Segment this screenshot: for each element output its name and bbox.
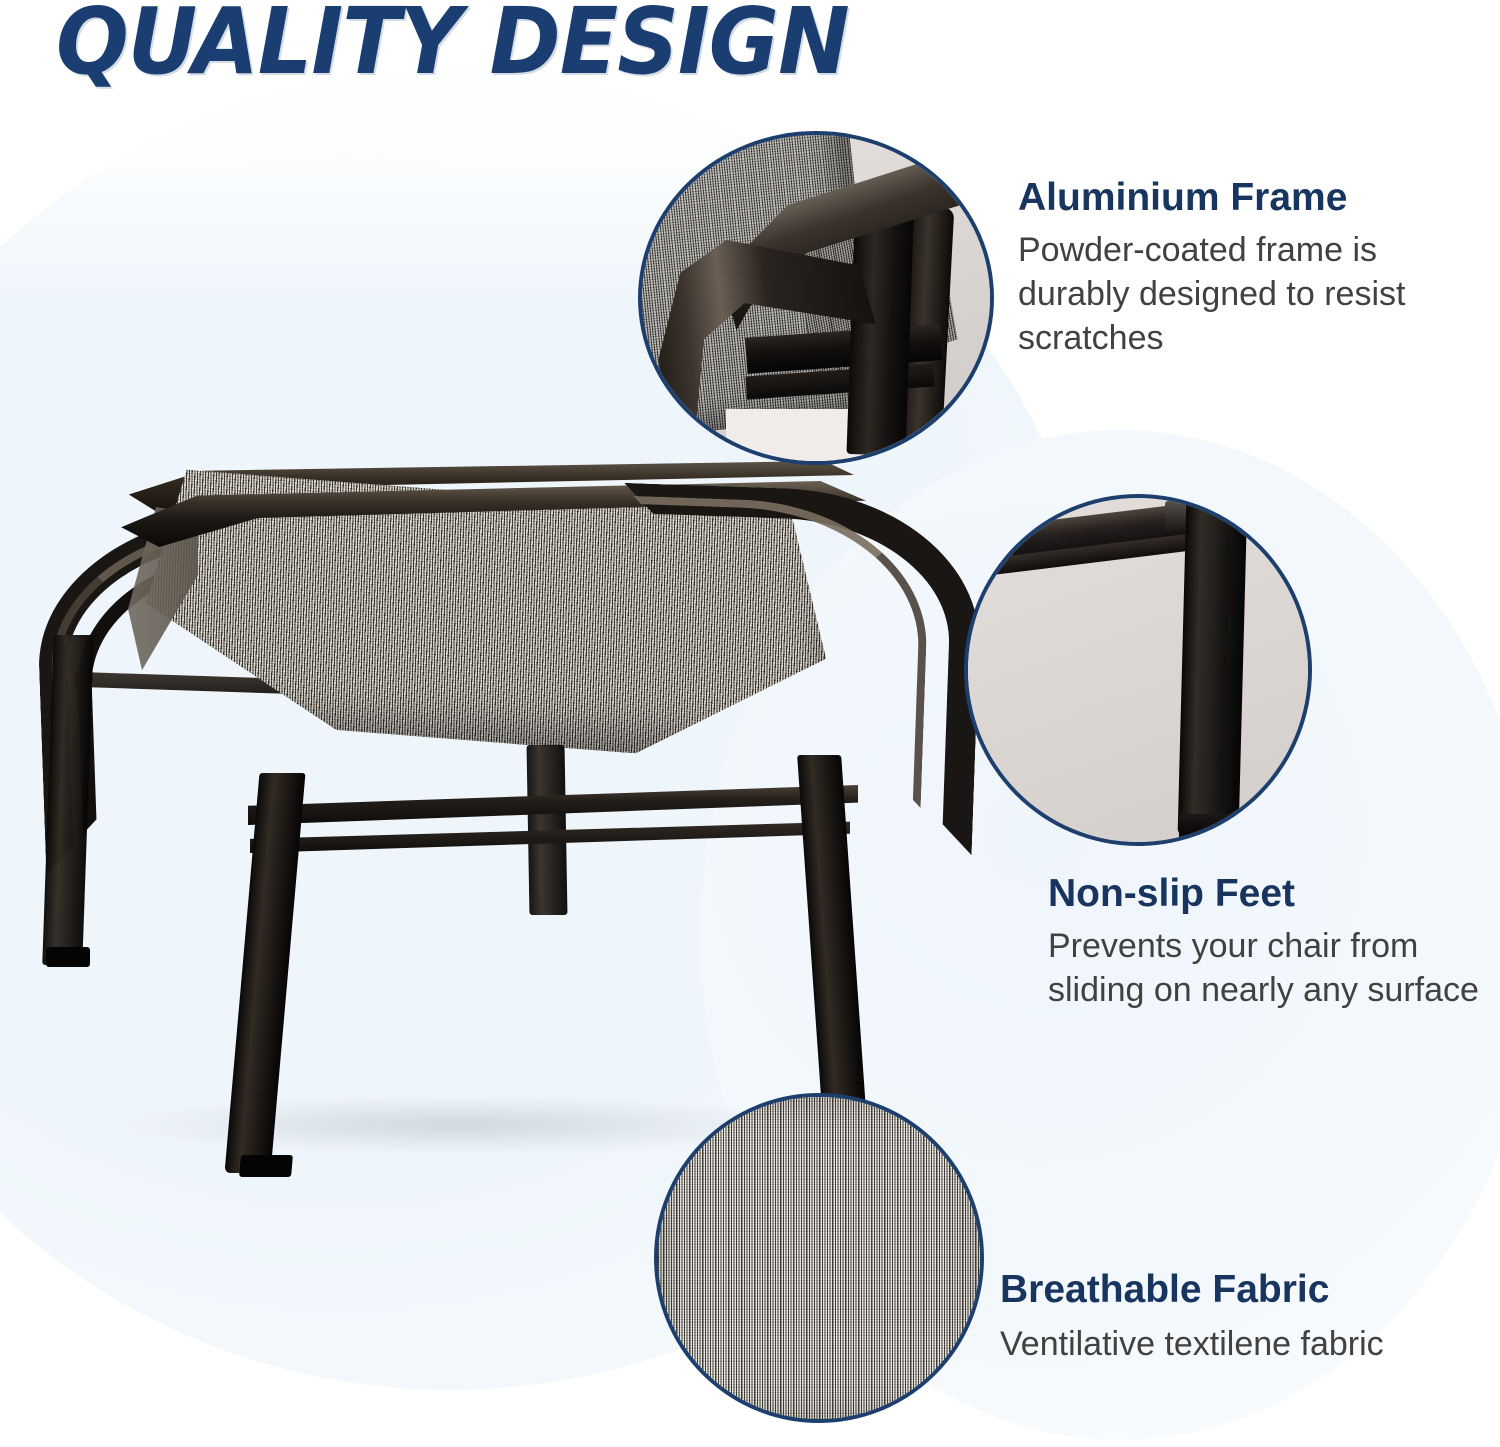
- feature-title: Breathable Fabric: [1000, 1268, 1495, 1312]
- page-title: QUALITY DESIGN: [56, 0, 849, 91]
- callout-textilene-weave: [658, 1097, 980, 1419]
- non-slip-foot-front-left: [239, 1155, 293, 1177]
- callout-image-aluminium-frame: [638, 131, 994, 465]
- callout-image-non-slip-feet: [964, 494, 1312, 846]
- feature-body: Prevents your chair from sliding on near…: [1048, 924, 1493, 1012]
- callout-image-breathable-fabric: [654, 1093, 984, 1423]
- feature-body: Ventilative textilene fabric: [1000, 1322, 1495, 1366]
- feature-breathable-fabric: Breathable Fabric Ventilative textilene …: [1000, 1268, 1495, 1366]
- feature-aluminium-frame: Aluminium Frame Powder-coated frame is d…: [1018, 176, 1486, 360]
- feature-non-slip-feet: Non-slip Feet Prevents your chair from s…: [1048, 872, 1493, 1012]
- feature-body: Powder-coated frame is durably designed …: [1018, 228, 1486, 361]
- feature-title: Aluminium Frame: [1018, 176, 1486, 220]
- feature-title: Non-slip Feet: [1048, 872, 1493, 916]
- product-image-ottoman: [18, 455, 908, 1195]
- callout-non-slip-foot: [1179, 814, 1240, 838]
- non-slip-foot-back-left: [46, 947, 90, 967]
